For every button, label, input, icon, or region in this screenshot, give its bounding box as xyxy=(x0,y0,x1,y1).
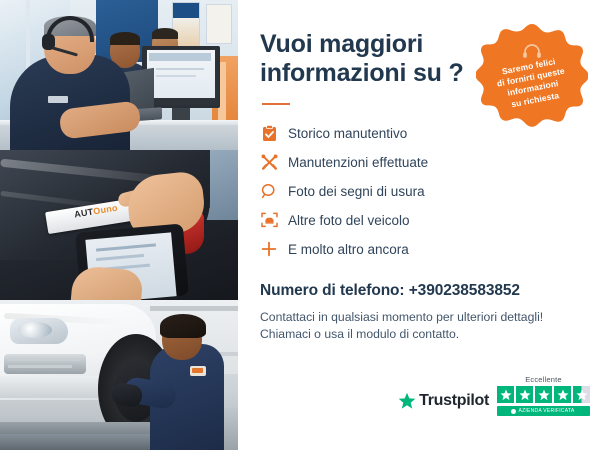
phone-line: Numero di telefono: +390238583852 xyxy=(260,282,576,300)
star-half-icon xyxy=(573,386,590,403)
star-filled-icon xyxy=(535,386,552,403)
page-title-line-2: informazioni su ? xyxy=(260,59,464,87)
photo-column: AUTOuno xyxy=(0,0,238,450)
phone-number[interactable]: +390238583852 xyxy=(409,282,520,299)
page-title: Vuoi maggiori informazioni su ? xyxy=(260,30,470,89)
verified-company-label: AZIENDA VERIFICATA xyxy=(519,408,575,414)
list-item: Altre foto del veicolo xyxy=(260,206,576,235)
trustpilot-widget[interactable]: Trustpilot Eccellente xyxy=(398,375,590,416)
contact-block: Numero di telefono: +390238583852 Contat… xyxy=(260,282,576,344)
trustpilot-stars xyxy=(497,386,590,403)
plus-icon xyxy=(260,240,278,258)
clipboard-check-icon xyxy=(260,124,278,142)
trustpilot-wordmark: Trustpilot xyxy=(419,392,489,410)
promo-card: AUTOuno xyxy=(0,0,600,450)
list-item: Foto dei segni di usura xyxy=(260,177,576,206)
contact-subtext: Contattaci in qualsiasi momento per ulte… xyxy=(260,309,576,344)
list-item: E molto altro ancora xyxy=(260,235,576,264)
contact-subtext-line-1: Contattaci in qualsiasi momento per ulte… xyxy=(260,309,576,326)
trustpilot-star-icon xyxy=(398,392,416,410)
content-panel: Vuoi maggiori informazioni su ? Saremo f… xyxy=(238,0,600,450)
star-filled-icon xyxy=(497,386,514,403)
phone-label: Numero di telefono: xyxy=(260,282,405,299)
list-item-label: E molto altro ancora xyxy=(288,242,409,257)
feature-list: Storico manutentivo Manutenzioni effettu… xyxy=(260,119,576,264)
star-filled-icon xyxy=(554,386,571,403)
list-item: Manutenzioni effettuate xyxy=(260,148,576,177)
list-item-label: Altre foto del veicolo xyxy=(288,213,410,228)
list-item-label: Manutenzioni effettuate xyxy=(288,155,428,170)
car-scan-icon xyxy=(260,211,278,229)
check-dot-icon xyxy=(511,409,516,414)
call-center-agents-photo xyxy=(0,0,238,150)
star-filled-icon xyxy=(516,386,533,403)
list-item-label: Storico manutentivo xyxy=(288,126,407,141)
trustpilot-brand: Trustpilot xyxy=(398,392,489,416)
tools-cross-icon xyxy=(260,153,278,171)
trustpilot-rating-label: Eccellente xyxy=(525,375,562,384)
garage-wheel-service-photo xyxy=(0,300,238,450)
magnifier-icon xyxy=(260,182,278,200)
headset-icon xyxy=(522,44,542,58)
trustpilot-rating: Eccellente xyxy=(497,375,590,416)
contact-subtext-line-2: Chiamaci o usa il modulo di contatto. xyxy=(260,326,576,343)
callout-badge: Saremo felici di fornirti queste informa… xyxy=(476,22,588,134)
license-plate-tablet-photo: AUTOuno xyxy=(0,150,238,300)
list-item-label: Foto dei segni di usura xyxy=(288,184,425,199)
page-title-line-1: Vuoi maggiori xyxy=(260,30,423,58)
title-divider xyxy=(262,103,290,105)
verified-company-badge: AZIENDA VERIFICATA xyxy=(497,406,590,416)
